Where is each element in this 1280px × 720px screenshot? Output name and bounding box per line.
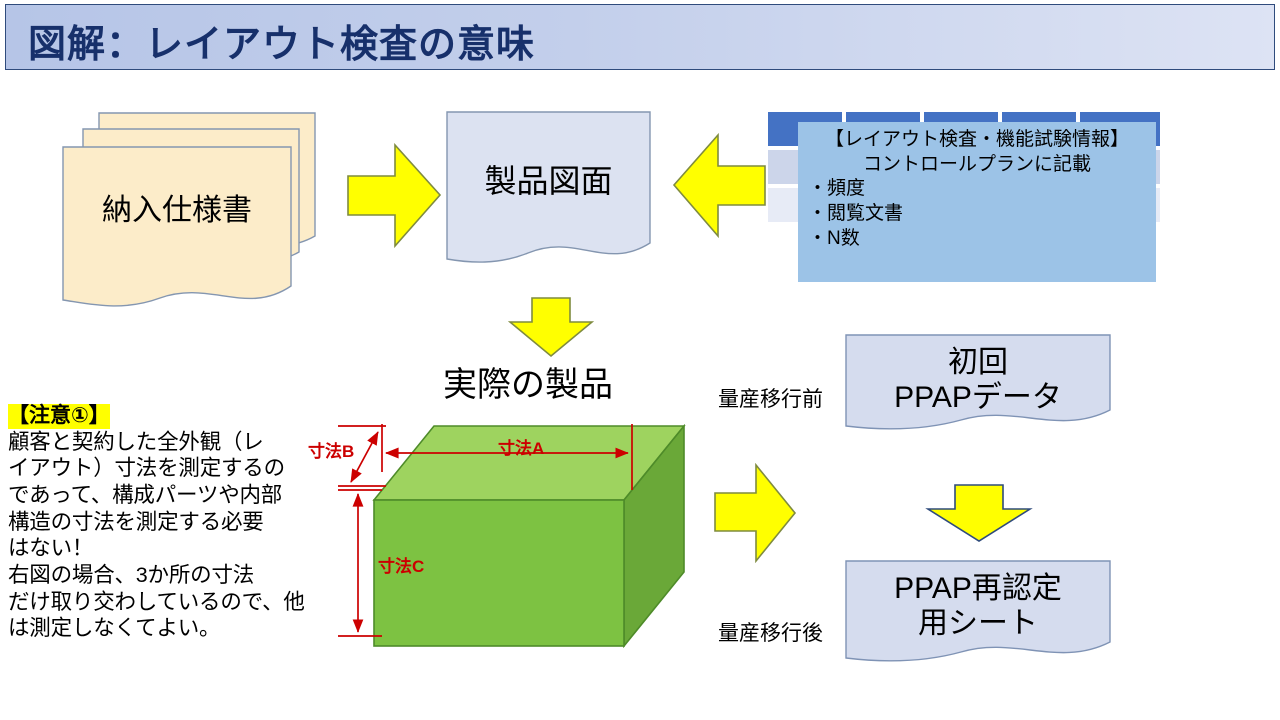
title-banner: 図解：レイアウト検査の意味 (5, 4, 1275, 70)
arrow-ppap-to-recert-icon (925, 483, 1033, 543)
info-box-bullet: ・閲覧文書 (808, 202, 1146, 227)
arrow-product-to-ppap-icon (712, 463, 798, 563)
dimension-c-label: 寸法C (378, 552, 424, 577)
actual-product-label: 実際の製品 (443, 357, 613, 406)
drawing-doc-label: 製品図面 (446, 163, 651, 200)
info-box-bullet: ・N数 (808, 227, 1146, 252)
info-box-bullet: ・頻度 (808, 177, 1146, 202)
spec-doc-label: 納入仕様書 (62, 194, 292, 229)
before-mass-production-label: 量産移行前 (718, 383, 823, 413)
ppap-recert-doc-label: PPAP再認定 用シート (845, 572, 1111, 641)
control-plan-info-box: 【レイアウト検査・機能試験情報】 コントロールプランに記載 ・頻度 ・閲覧文書 … (798, 122, 1156, 282)
first-ppap-doc-label: 初回 PPAPデータ (845, 346, 1111, 415)
caution-heading: 【注意①】 (8, 404, 110, 429)
caution-heading-wrap: 【注意①】 (8, 404, 338, 429)
info-box-subheading: コントロールプランに記載 (808, 153, 1146, 178)
after-mass-production-label: 量産移行後 (718, 617, 823, 647)
caution-body: 顧客と契約した全外観（レ イアウト）寸法を測定するの であって、構成パーツや内部… (8, 429, 338, 642)
ppap-recert-doc: PPAP再認定 用シート (845, 560, 1111, 668)
arrow-drawing-to-product-icon (508, 296, 594, 358)
arrow-spec-to-drawing-icon (345, 143, 443, 248)
info-box-heading: 【レイアウト検査・機能試験情報】 (808, 128, 1146, 153)
slide-canvas: 図解：レイアウト検査の意味 納入仕様書 製品図面 (0, 0, 1280, 720)
first-ppap-doc: 初回 PPAPデータ (845, 334, 1111, 434)
dimension-a-label: 寸法A (498, 434, 544, 459)
arrow-info-to-drawing-icon (672, 133, 768, 238)
dimension-annotations: 寸法A 寸法B 寸法C (320, 412, 750, 662)
caution-block: 【注意①】 顧客と契約した全外観（レ イアウト）寸法を測定するの であって、構成… (8, 404, 338, 642)
drawing-doc: 製品図面 (446, 111, 651, 273)
page-title: 図解：レイアウト検査の意味 (28, 13, 535, 68)
spec-doc-sheet-front: 納入仕様書 (62, 146, 292, 316)
